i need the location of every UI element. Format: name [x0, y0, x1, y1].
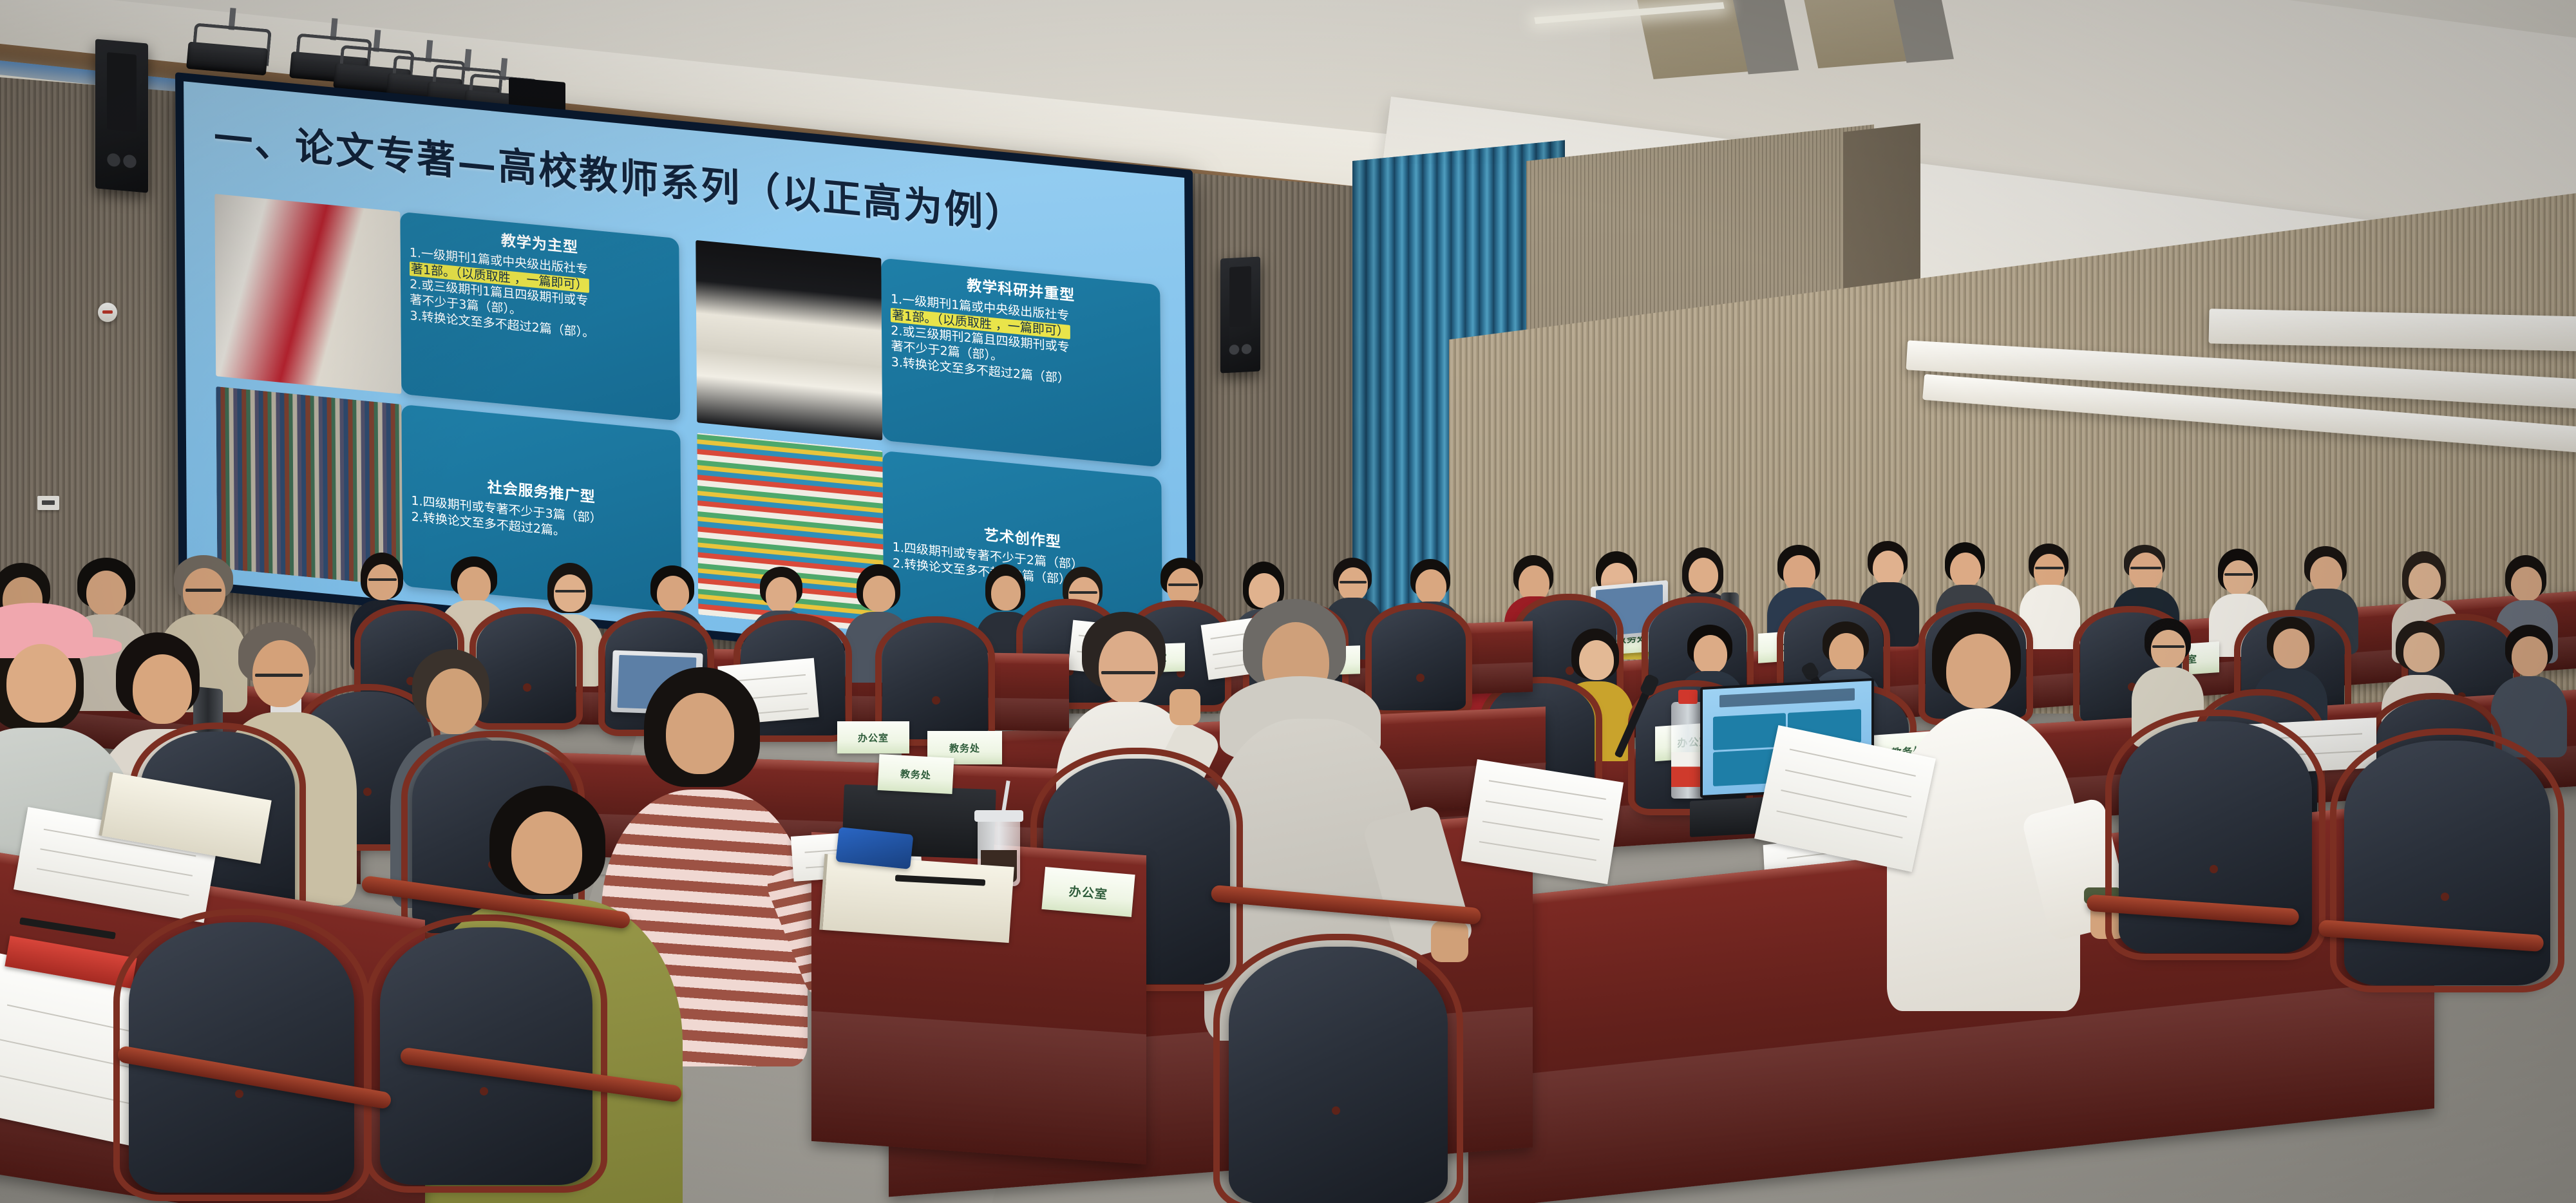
name-card-office: 办公室 — [1041, 867, 1135, 917]
chair-lc2[interactable] — [477, 613, 576, 726]
conference-room-scene: 一、论文专著—高校教师系列（以正高为例） 教学为主型 1.一级期刊1篇或中央级出… — [0, 0, 2576, 1203]
chair-center-b4[interactable] — [1372, 608, 1466, 714]
left-wall-speaker — [95, 39, 148, 193]
quadrant-image-stacked-books — [696, 240, 882, 440]
quadrant-image-open-book — [214, 194, 401, 393]
screen-side-speaker — [1220, 256, 1260, 373]
chair-center-front-2[interactable] — [1229, 947, 1448, 1203]
quadrant-lines: 1.一级期刊1篇或中央级出版社专 著1部。（以质取胜 ，一篇即可） 2.或三级期… — [891, 291, 1152, 395]
quadrant-card: 教学为主型 1.一级期刊1篇或中央级出版社专 著1部。（以质取胜 ，一篇即可） … — [400, 212, 680, 421]
quadrant-card: 社会服务推广型 1.四级期刊或专著不少于3篇（部） 2.转换论文至多不超过2篇。 — [401, 404, 681, 612]
name-card: 教务处 — [878, 754, 954, 794]
no-smoking-sign — [98, 303, 117, 322]
hand — [1170, 689, 1200, 725]
wall-power-outlet — [37, 496, 59, 510]
stage-light-1 — [186, 23, 270, 76]
open-notebook — [819, 854, 1014, 943]
name-card: 办公室 — [837, 721, 909, 753]
quadrant-card: 教学科研并重型 1.一级期刊1篇或中央级出版社专 著1部。（以质取胜 ，一篇即可… — [882, 258, 1162, 467]
quadrant-heading: 艺术创作型 — [984, 522, 1061, 552]
slide-quadrant-teaching-primary: 教学为主型 1.一级期刊1篇或中央级出版社专 著1部。（以质取胜 ，一篇即可） … — [214, 194, 680, 421]
slide-quadrant-social-service-promotion: 社会服务推广型 1.四级期刊或专著不少于3篇（部） 2.转换论文至多不超过2篇。 — [216, 386, 681, 613]
slide-quadrant-teaching-research-equal: 教学科研并重型 1.一级期刊1篇或中央级出版社专 著1部。（以质取胜 ，一篇即可… — [696, 240, 1161, 467]
quadrant-heading: 教学为主型 — [501, 228, 578, 258]
quadrant-lines: 1.一级期刊1篇或中央级出版社专 著1部。（以质取胜 ，一篇即可） 2.或三级期… — [410, 245, 671, 348]
